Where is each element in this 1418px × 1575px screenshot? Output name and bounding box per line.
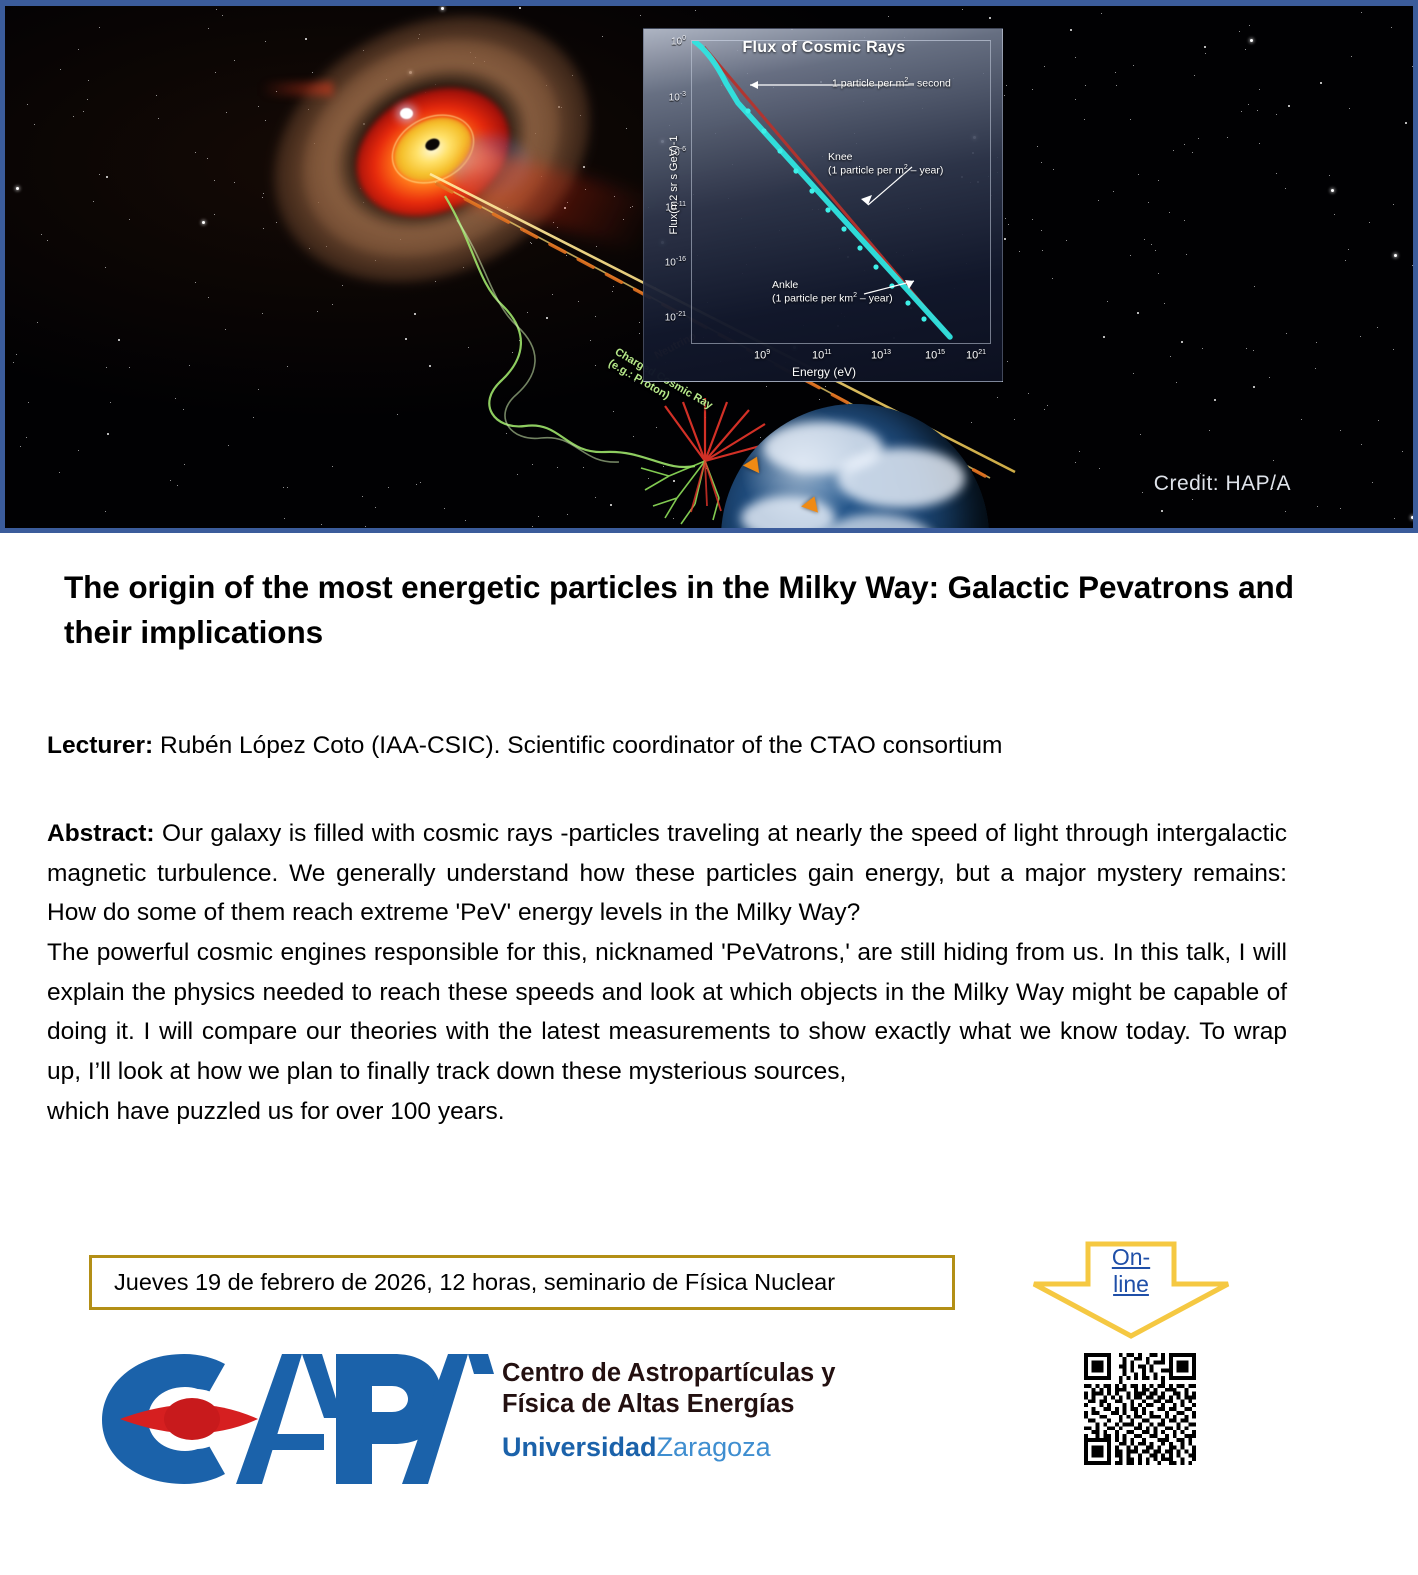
online-link-arrow[interactable]: On- line xyxy=(1026,1240,1236,1340)
lecturer-label: Lecturer: xyxy=(47,732,153,759)
capa-subtitle-line2: Física de Altas Energías xyxy=(502,1389,942,1420)
chart-y-axis-label: Flux(m2 sr s GeV)-1 xyxy=(668,105,680,265)
seminar-poster: Neutrino Charged Cosmic Ray (e.g.: Proto… xyxy=(0,0,1418,1575)
online-link-line1: On- xyxy=(1026,1244,1236,1271)
university-name: Universidad xyxy=(502,1432,657,1462)
image-credit: Credit: HAP/A xyxy=(1154,472,1291,496)
chart-xtick-2: 1013 xyxy=(871,349,891,362)
hero-image: Neutrino Charged Cosmic Ray (e.g.: Proto… xyxy=(0,0,1418,533)
capa-logo-text: Centro de Astropartículas y Física de Al… xyxy=(502,1358,942,1463)
star xyxy=(682,531,683,532)
university-city: Zaragoza xyxy=(657,1432,771,1462)
chart-ytick-5: 10-21 xyxy=(665,311,686,323)
online-link-line2: line xyxy=(1026,1271,1236,1298)
university-line: UniversidadZaragoza xyxy=(502,1432,942,1463)
chart-xtick-1: 1011 xyxy=(812,349,832,362)
qr-code-icon xyxy=(1084,1353,1196,1465)
chart-annotation-ankle: Ankle(1 particle per km2 – year) xyxy=(772,279,893,306)
star xyxy=(372,529,373,530)
lecturer-line: Lecturer: Rubén López Coto (IAA-CSIC). S… xyxy=(47,730,1337,762)
cosmic-ray-flux-chart: Flux of Cosmic Rays xyxy=(643,28,1003,382)
capa-logo: Centro de Astropartículas y Física de Al… xyxy=(96,1348,856,1513)
chart-xtick-4: 1021 xyxy=(966,349,986,362)
chart-ytick-0: 100 xyxy=(671,35,686,47)
abstract-paragraph-2: The powerful cosmic engines responsible … xyxy=(47,933,1287,1092)
chart-xtick-3: 1015 xyxy=(925,349,945,362)
lecturer-value: Rubén López Coto (IAA-CSIC). Scientific … xyxy=(153,732,1002,759)
chart-annotation-rate: 1 particle per m2– second xyxy=(832,77,951,91)
capa-wordmark-icon xyxy=(96,1348,496,1488)
abstract-paragraph-1: Abstract: Our galaxy is filled with cosm… xyxy=(47,814,1287,933)
abstract-block: Abstract: Our galaxy is filled with cosm… xyxy=(47,814,1287,1132)
qr-code[interactable] xyxy=(1084,1353,1196,1465)
chart-annotation-knee: Knee(1 particle per m2 – year) xyxy=(828,151,943,178)
event-datetime-text: Jueves 19 de febrero de 2026, 12 horas, … xyxy=(114,1269,835,1296)
event-datetime-box: Jueves 19 de febrero de 2026, 12 horas, … xyxy=(89,1255,955,1310)
abstract-paragraph-3: which have puzzled us for over 100 years… xyxy=(47,1092,1287,1132)
chart-x-axis-label: Energy (eV) xyxy=(644,365,1004,379)
online-link-text[interactable]: On- line xyxy=(1026,1244,1236,1298)
abstract-label: Abstract: xyxy=(47,820,155,847)
star xyxy=(1405,528,1407,530)
chart-xtick-0: 109 xyxy=(754,349,770,362)
abstract-text-1: Our galaxy is filled with cosmic rays -p… xyxy=(47,820,1287,926)
capa-subtitle-line1: Centro de Astropartículas y xyxy=(502,1358,942,1389)
page-title: The origin of the most energetic particl… xyxy=(64,565,1334,654)
chart-ytick-1: 10-3 xyxy=(669,91,686,103)
